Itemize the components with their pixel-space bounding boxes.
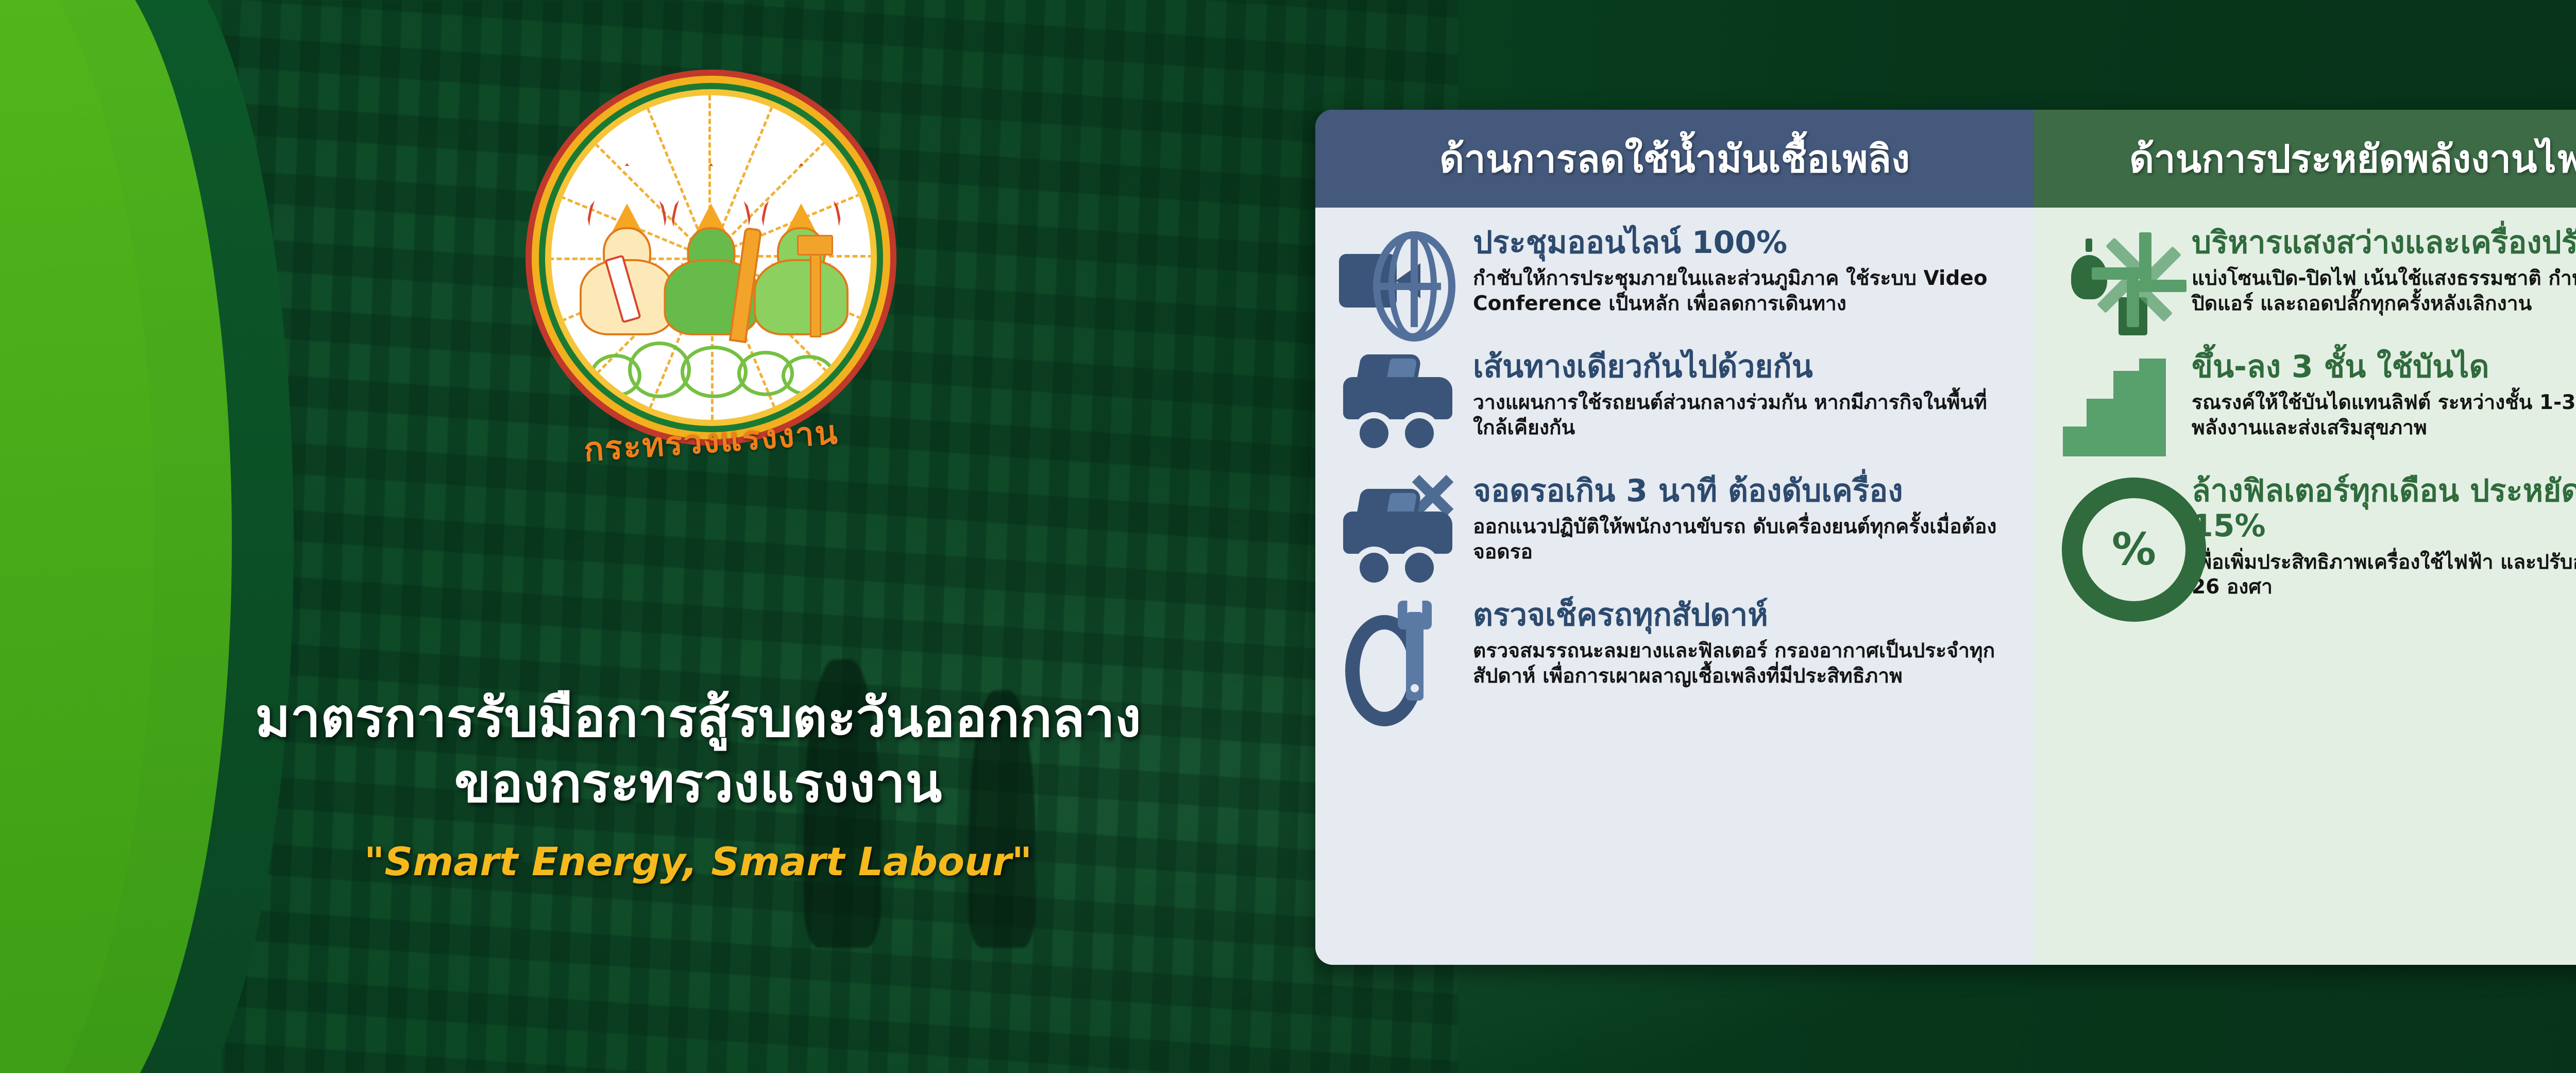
- measure-desc: แบ่งโซนเปิด-ปิดไฟ เน้นใช้แสงธรรมชาติ กำห…: [2192, 266, 2576, 316]
- car-icon: [1339, 349, 1458, 460]
- car-engine-off-icon: [1339, 473, 1458, 584]
- percent-donut-icon: %: [2058, 473, 2176, 584]
- measure-text: บริหารแสงสว่างและเครื่องปรับอากาศ แบ่งโซ…: [2192, 225, 2576, 316]
- infographic-banner: กระทรวงแรงงาน มาตรการรับมือการสู้รบตะวัน…: [0, 0, 2576, 1073]
- ministry-emblem: กระทรวงแรงงาน: [526, 70, 896, 446]
- measure-title: ตรวจเช็ครถทุกสัปดาห์: [1473, 598, 2012, 633]
- tagline: "Smart Energy, Smart Labour": [170, 839, 1226, 884]
- light-aircon-icon: [2058, 225, 2176, 336]
- measure-desc: ตรวจสมรรถนะลมยางและฟิลเตอร์ กรองอากาศเป็…: [1473, 639, 2012, 689]
- green-swoosh-graphic: [0, 0, 381, 1073]
- measure-desc: ออกแนวปฏิบัติให้พนักงานขับรถ ดับเครื่องย…: [1473, 515, 2012, 565]
- measure-title: บริหารแสงสว่างและเครื่องปรับอากาศ: [2192, 225, 2576, 260]
- measure-item: % ล้างฟิลเตอร์ทุกเดือน ประหยัดไฟ 10-15% …: [2058, 473, 2576, 600]
- panel-electricity-saving-header: ด้านการประหยัดพลังงานไฟฟ้า: [2034, 110, 2576, 208]
- measure-text: ประชุมออนไลน์ 100% กำชับให้การประชุมภายใ…: [1473, 225, 2012, 316]
- measure-item: เส้นทางเดียวกันไปด้วยกัน วางแผนการใช้รถย…: [1339, 349, 2012, 460]
- measure-item: ขึ้น-ลง 3 ชั้น ใช้บันได รณรงค์ให้ใช้บันไ…: [2058, 349, 2576, 460]
- panel-fuel-reduction-header: ด้านการลดใช้น้ำมันเชื้อเพลิง: [1315, 110, 2034, 208]
- emblem-face: [551, 95, 871, 420]
- panel-electricity-saving: ด้านการประหยัดพลังงานไฟฟ้า บริหารแสงสว่า…: [2034, 110, 2576, 965]
- measure-text: ล้างฟิลเตอร์ทุกเดือน ประหยัดไฟ 10-15% เพ…: [2192, 473, 2576, 600]
- panel-electricity-saving-body: บริหารแสงสว่างและเครื่องปรับอากาศ แบ่งโซ…: [2034, 208, 2576, 965]
- panel-fuel-reduction: ด้านการลดใช้น้ำมันเชื้อเพลิง ประชุมออนไล…: [1315, 110, 2034, 965]
- page-title: มาตรการรับมือการสู้รบตะวันออกกลาง ของกระ…: [170, 685, 1226, 816]
- measure-text: ขึ้น-ลง 3 ชั้น ใช้บันได รณรงค์ให้ใช้บันไ…: [2192, 349, 2576, 440]
- axe-icon: [810, 247, 821, 337]
- hero-text-block: มาตรการรับมือการสู้รบตะวันออกกลาง ของกระ…: [170, 685, 1226, 884]
- measure-title: ขึ้น-ลง 3 ชั้น ใช้บันได: [2192, 349, 2576, 384]
- measure-title: ประชุมออนไลน์ 100%: [1473, 225, 2012, 260]
- measure-text: เส้นทางเดียวกันไปด้วยกัน วางแผนการใช้รถย…: [1473, 349, 2012, 440]
- measure-desc: เพื่อเพิ่มประสิทธิภาพเครื่องใช้ไฟฟ้า และ…: [2192, 550, 2576, 600]
- measure-item: ประชุมออนไลน์ 100% กำชับให้การประชุมภายใ…: [1339, 225, 2012, 336]
- measure-text: ตรวจเช็ครถทุกสัปดาห์ ตรวจสมรรถนะลมยางและ…: [1473, 598, 2012, 689]
- measure-item: จอดรอเกิน 3 นาที ต้องดับเครื่อง ออกแนวปฏ…: [1339, 473, 2012, 584]
- percent-glyph: %: [2112, 527, 2156, 572]
- emblem-seal: [526, 70, 896, 446]
- tire-wrench-icon: [1339, 598, 1458, 708]
- panel-header-label: ด้านการประหยัดพลังงานไฟฟ้า: [2129, 128, 2576, 189]
- measure-title: จอดรอเกิน 3 นาที ต้องดับเครื่อง: [1473, 473, 2012, 508]
- cloud-motif: [590, 336, 832, 393]
- stairs-icon: [2058, 349, 2176, 460]
- measure-text: จอดรอเกิน 3 นาที ต้องดับเครื่อง ออกแนวปฏ…: [1473, 473, 2012, 565]
- measure-title: ล้างฟิลเตอร์ทุกเดือน ประหยัดไฟ 10-15%: [2192, 473, 2576, 544]
- page-title-line-2: ของกระทรวงแรงงาน: [454, 752, 942, 814]
- measures-card: ด้านการลดใช้น้ำมันเชื้อเพลิง ประชุมออนไล…: [1315, 110, 2576, 965]
- page-title-line-1: มาตรการรับมือการสู้รบตะวันออกกลาง: [255, 686, 1141, 749]
- video-conference-icon: [1339, 225, 1458, 336]
- panel-header-label: ด้านการลดใช้น้ำมันเชื้อเพลิง: [1439, 128, 1910, 189]
- measure-desc: รณรงค์ให้ใช้บันไดแทนลิฟต์ ระหว่างชั้น 1-…: [2192, 390, 2576, 440]
- measure-desc: วางแผนการใช้รถยนต์ส่วนกลางร่วมกัน หากมีภ…: [1473, 390, 2012, 440]
- measure-title: เส้นทางเดียวกันไปด้วยกัน: [1473, 349, 2012, 384]
- measure-item: บริหารแสงสว่างและเครื่องปรับอากาศ แบ่งโซ…: [2058, 225, 2576, 336]
- panel-fuel-reduction-body: ประชุมออนไลน์ 100% กำชับให้การประชุมภายใ…: [1315, 208, 2034, 965]
- deity-figure-right: [752, 173, 850, 343]
- measure-item: ตรวจเช็ครถทุกสัปดาห์ ตรวจสมรรถนะลมยางและ…: [1339, 598, 2012, 708]
- measure-desc: กำชับให้การประชุมภายในและส่วนภูมิภาค ใช้…: [1473, 266, 2012, 316]
